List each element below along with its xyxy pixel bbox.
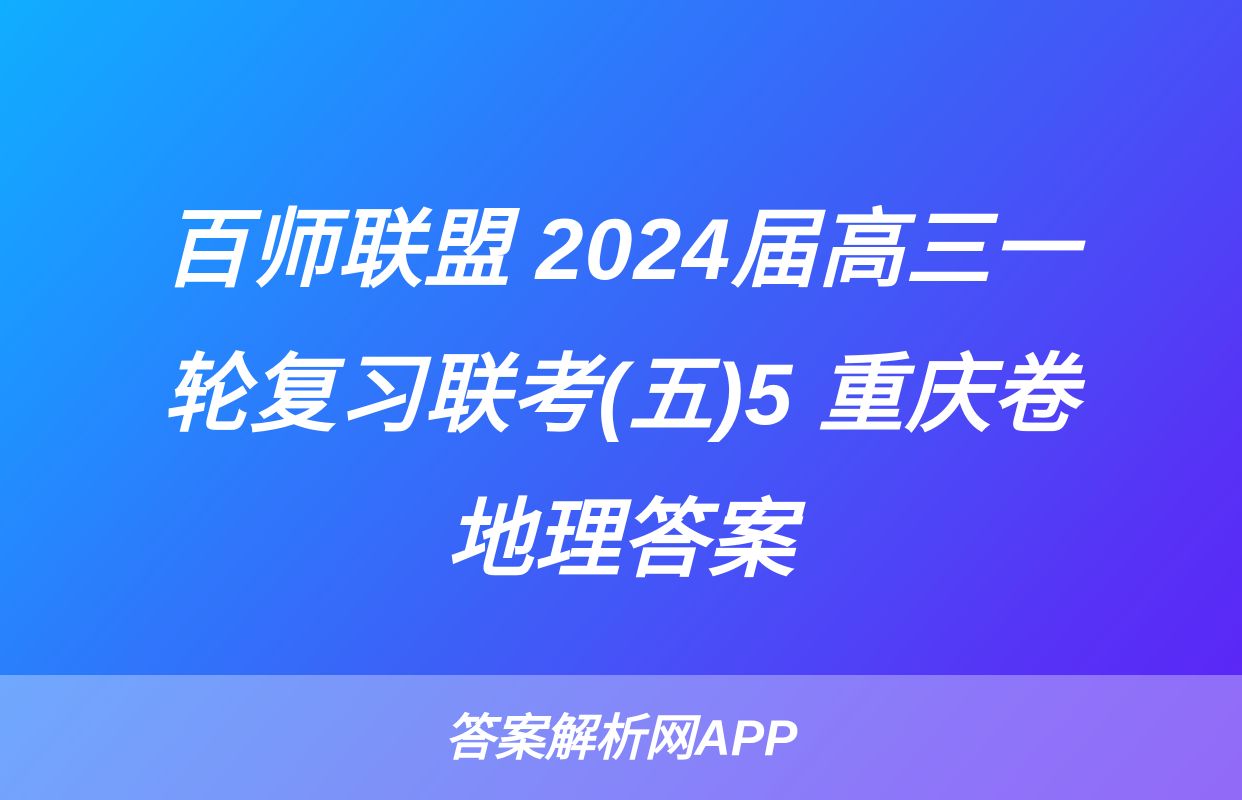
watermark-bar: 答案解析网APP [0, 675, 1242, 800]
poster-canvas: 百师联盟 2024届高三一 轮复习联考(五)5 重庆卷 地理答案 答案解析网AP… [0, 0, 1242, 800]
app-brand-watermark: 答案解析网APP [445, 713, 798, 763]
page-title-line-1: 百师联盟 2024届高三一 [70, 178, 1172, 323]
page-title-line-2: 轮复习联考(五)5 重庆卷 [70, 323, 1172, 468]
page-title-line-3: 地理答案 [70, 468, 1172, 613]
page-title: 百师联盟 2024届高三一 轮复习联考(五)5 重庆卷 地理答案 [0, 178, 1242, 613]
